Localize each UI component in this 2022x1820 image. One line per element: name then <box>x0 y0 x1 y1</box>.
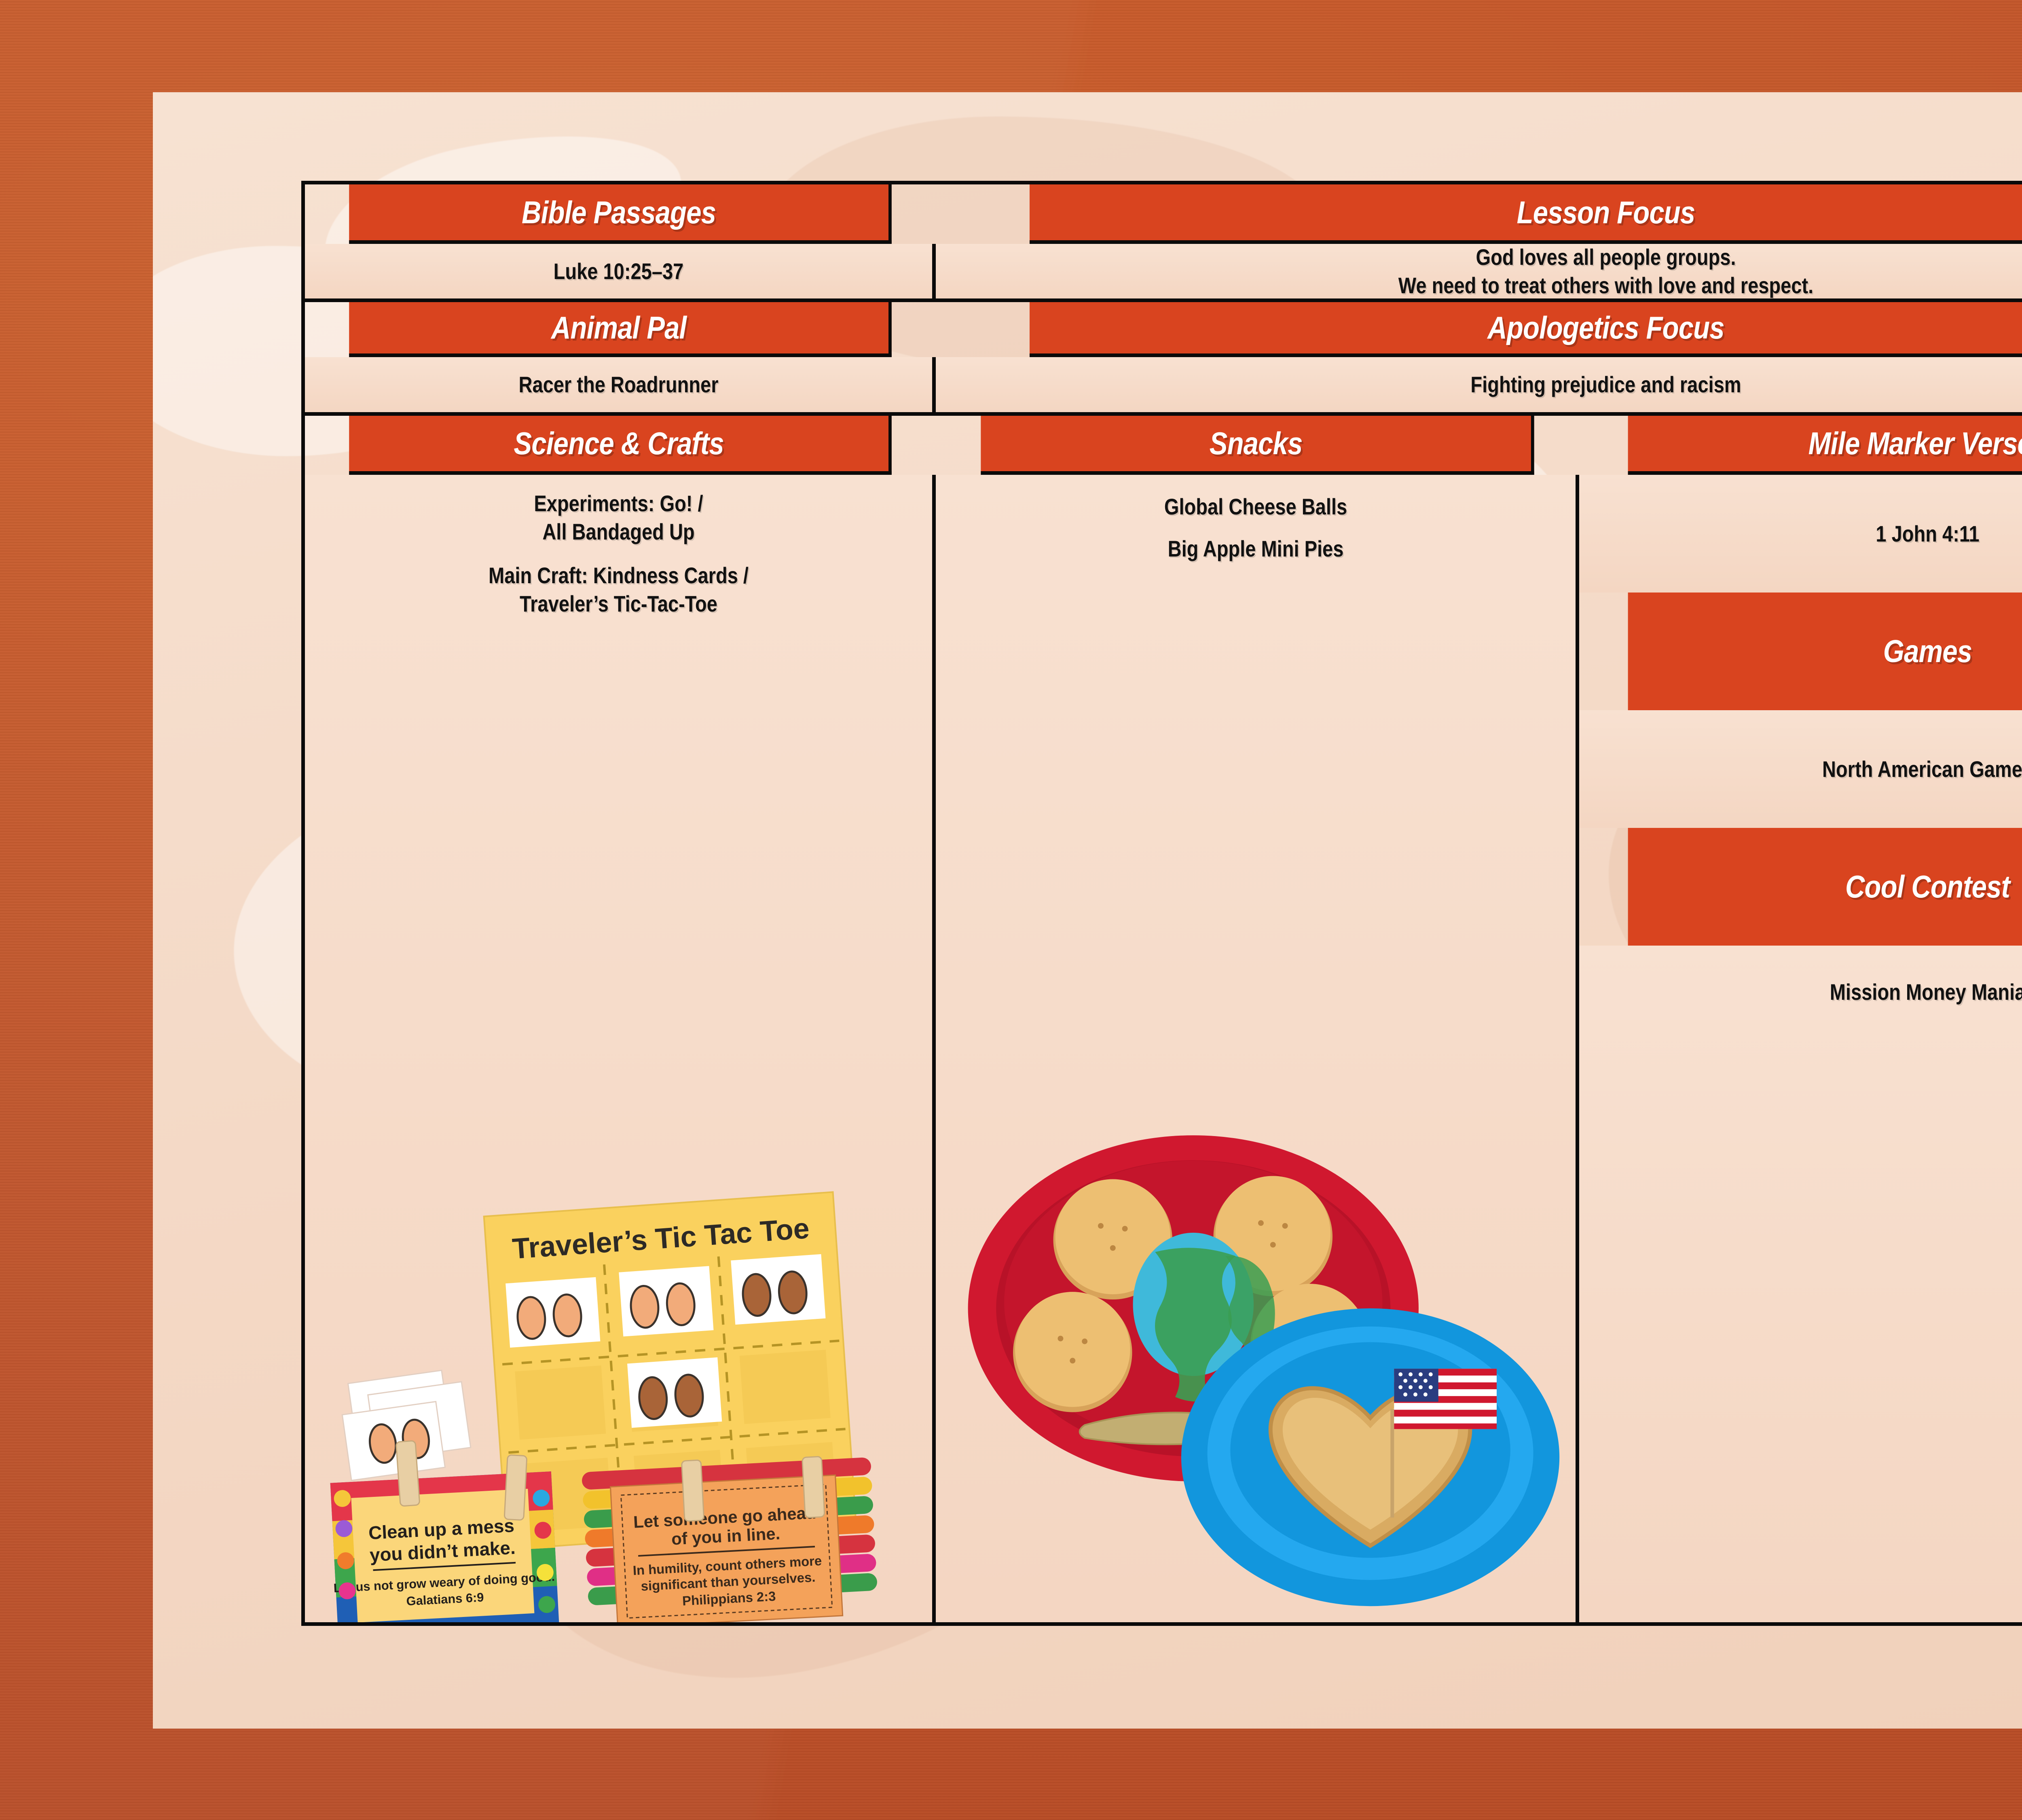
cell-animal-pal: Racer the Roadrunner <box>305 357 936 416</box>
header-cool-contest-label: Cool Contest <box>1845 868 2010 905</box>
header-mile-marker-verses-label: Mile Marker Verses <box>1808 425 2022 462</box>
table-bottom-row: Experiments: Go! / All Bandaged Up Main … <box>305 475 2022 1622</box>
header-science-crafts: Science & Crafts <box>349 416 892 475</box>
lesson-focus-line-2: We need to treat others with love and re… <box>1051 271 2022 300</box>
header-science-crafts-label: Science & Crafts <box>514 425 723 462</box>
craft-photo: Traveler’s Tic Tac Toe <box>305 626 932 1622</box>
table-row-bible-lesson: Luke 10:25–37 God loves all people group… <box>305 244 2022 302</box>
table-header-row-3: Science & Crafts Snacks Mile Marker Vers… <box>305 416 2022 475</box>
science-crafts-line-1b: All Bandaged Up <box>363 518 874 546</box>
apologetics-focus-value: Fighting prejudice and racism <box>1051 370 2022 399</box>
science-crafts-line-2b: Traveler’s Tic-Tac-Toe <box>363 590 874 618</box>
header-animal-pal-label: Animal Pal <box>551 309 686 346</box>
header-games: Games <box>1628 593 2022 710</box>
header-mile-marker-verses: Mile Marker Verses <box>1628 416 2022 475</box>
lesson-focus-line-1: God loves all people groups. <box>1051 244 2022 271</box>
craft-illustration: Traveler’s Tic Tac Toe <box>305 626 932 1622</box>
cell-snacks: Global Cheese Balls Big Apple Mini Pies <box>936 475 1579 1622</box>
mile-marker-verse-value: 1 John 4:11 <box>1643 520 2022 548</box>
snack-photo <box>936 567 1576 1622</box>
snack-illustration <box>936 567 1576 1622</box>
cell-apologetics-focus: Fighting prejudice and racism <box>936 357 2022 416</box>
header-apologetics-focus: Apologetics Focus <box>1030 302 2022 357</box>
science-crafts-line-2a: Main Craft: Kindness Cards / <box>363 561 874 590</box>
snack-item-2: Big Apple Mini Pies <box>995 535 1516 563</box>
table-header-row-2: Animal Pal Apologetics Focus <box>305 302 2022 357</box>
cell-mile-marker-verse: 1 John 4:11 <box>1579 475 2022 593</box>
snack-item-1: Global Cheese Balls <box>995 493 1516 521</box>
cell-games-value: North American Games <box>1579 710 2022 828</box>
cell-science-crafts: Experiments: Go! / All Bandaged Up Main … <box>305 475 936 1622</box>
header-apologetics-focus-label: Apologetics Focus <box>1487 309 1724 346</box>
games-value: North American Games <box>1643 755 2022 783</box>
header-bible-passages-label: Bible Passages <box>522 194 716 231</box>
header-snacks: Snacks <box>981 416 1534 475</box>
cell-bible-passage: Luke 10:25–37 <box>305 244 936 302</box>
animal-pal-value: Racer the Roadrunner <box>363 370 874 399</box>
header-cool-contest: Cool Contest <box>1628 828 2022 946</box>
cell-cool-contest-value: Mission Money Mania <box>1579 946 2022 1622</box>
cell-right-column: 1 John 4:11 Games North American Games C… <box>1579 475 2022 1622</box>
header-snacks-label: Snacks <box>1210 425 1303 462</box>
bible-passage-value: Luke 10:25–37 <box>363 257 874 286</box>
header-animal-pal: Animal Pal <box>349 302 892 357</box>
table-header-row-1: Bible Passages Lesson Focus <box>305 184 2022 244</box>
cool-contest-value: Mission Money Mania <box>1643 978 2022 1006</box>
header-lesson-focus: Lesson Focus <box>1030 184 2022 244</box>
header-games-label: Games <box>1883 633 1972 670</box>
header-lesson-focus-label: Lesson Focus <box>1517 194 1695 231</box>
header-bible-passages: Bible Passages <box>349 184 892 244</box>
science-crafts-line-1a: Experiments: Go! / <box>363 489 874 518</box>
schedule-table: Bible Passages Lesson Focus Luke 10:25–3… <box>301 181 2022 1626</box>
cell-lesson-focus: God loves all people groups. We need to … <box>936 244 2022 302</box>
table-row-animal-apologetics: Racer the Roadrunner Fighting prejudice … <box>305 357 2022 416</box>
